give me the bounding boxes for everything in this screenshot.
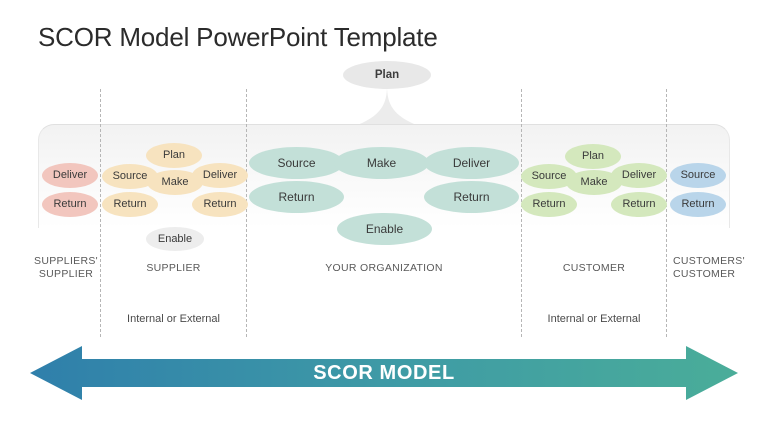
boundary-note-left: Internal or External [101,313,246,325]
ellipse-organization-source[interactable]: Source [249,147,344,179]
ellipse-suppliers-supplier-return[interactable]: Return [42,192,98,217]
ellipse-customer-return-left[interactable]: Return [521,192,577,217]
ellipse-customers-customer-return[interactable]: Return [670,192,726,217]
tier-label-line-1: SUPPLIERS' [34,255,98,268]
ellipse-customer-return-right[interactable]: Return [611,192,667,217]
ellipse-supplier-return-left[interactable]: Return [102,192,158,217]
ellipse-organization-return-right[interactable]: Return [424,181,519,213]
tier-label-line-2: CUSTOMER [673,268,765,281]
plan-funnel-shape [355,86,419,128]
tier-label-line-2: SUPPLIER [34,268,98,281]
tier-label-customer: CUSTOMER [522,262,666,275]
ellipse-customers-customer-source[interactable]: Source [670,163,726,188]
divider-organization [521,89,522,337]
page-title: SCOR Model PowerPoint Template [38,22,438,53]
ellipse-supplier-plan[interactable]: Plan [146,143,202,168]
ellipse-organization-make[interactable]: Make [334,147,429,179]
ellipse-organization-deliver[interactable]: Deliver [424,147,519,179]
divider-customer [666,89,667,337]
plan-cap-ellipse[interactable]: Plan [343,61,431,89]
ellipse-customer-plan[interactable]: Plan [565,144,621,169]
boundary-note-right: Internal or External [522,313,666,325]
ellipse-supplier-enable[interactable]: Enable [146,227,204,251]
tier-label-customers-customer: CUSTOMERS' CUSTOMER [673,255,765,281]
ellipse-suppliers-supplier-deliver[interactable]: Deliver [42,163,98,188]
ellipse-customer-deliver[interactable]: Deliver [611,163,667,188]
ellipse-supplier-deliver[interactable]: Deliver [192,163,248,188]
ellipse-organization-return-left[interactable]: Return [249,181,344,213]
scor-model-arrow[interactable] [30,346,738,400]
tier-label-line-1: CUSTOMERS' [673,255,765,268]
divider-suppliers-supplier [100,89,101,337]
ellipse-supplier-return-right[interactable]: Return [192,192,248,217]
ellipse-organization-enable[interactable]: Enable [337,213,432,245]
tier-label-suppliers-supplier: SUPPLIERS' SUPPLIER [34,255,98,281]
tier-label-organization: YOUR ORGANIZATION [247,262,521,275]
divider-supplier [246,89,247,337]
tier-label-supplier: SUPPLIER [101,262,246,275]
